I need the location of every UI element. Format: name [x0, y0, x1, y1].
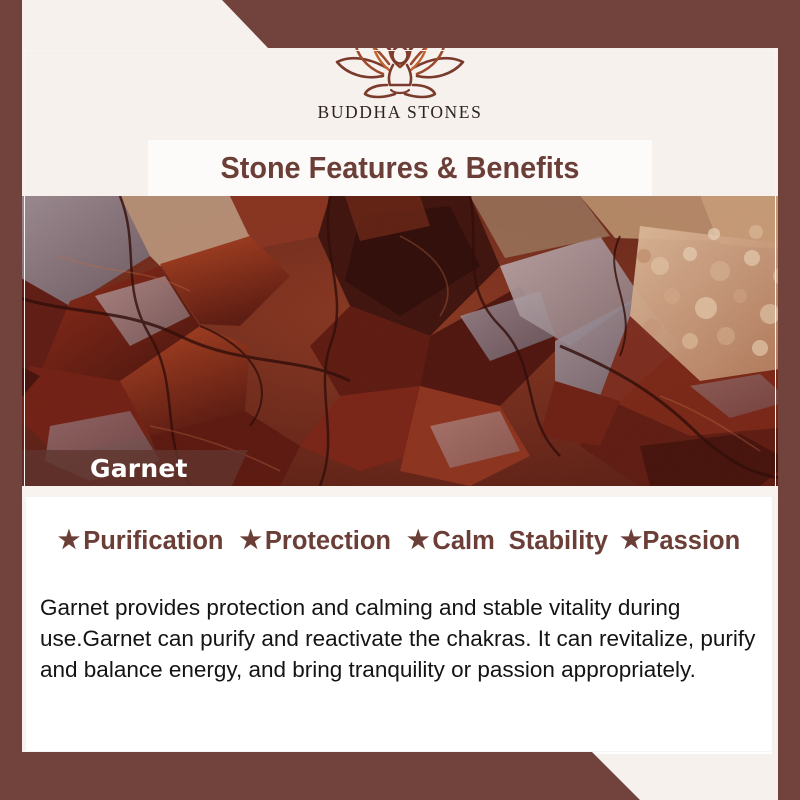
feature-label: Passion	[642, 527, 740, 556]
stone-name-label: Garnet	[22, 450, 248, 486]
frame-border-right	[778, 0, 800, 800]
feature-purification: ★ Purification	[58, 527, 224, 556]
stone-info-card: ★ Purification ★ Protection ★ Calm Stabi…	[26, 497, 772, 754]
feature-protection: ★ Protection	[239, 527, 391, 556]
feature-passion: ★ Passion	[620, 527, 740, 556]
product-info-graphic: BUDDHA STONES Stone Features & Benefits	[0, 0, 800, 800]
feature-calm: ★ Calm	[407, 527, 495, 556]
feature-label: Stability	[509, 527, 608, 556]
feature-label: Calm	[432, 527, 494, 556]
feature-stability: Stability	[509, 527, 608, 556]
garnet-crystal-image	[0, 196, 800, 486]
feature-label: Purification	[83, 527, 223, 556]
page-title: Stone Features & Benefits	[221, 150, 580, 186]
star-icon: ★	[58, 528, 80, 553]
stone-description: Garnet provides protection and calming a…	[40, 592, 762, 685]
feature-list: ★ Purification ★ Protection ★ Calm Stabi…	[26, 527, 772, 556]
stone-name: Garnet	[90, 454, 188, 483]
stone-photo	[0, 196, 800, 486]
star-icon: ★	[407, 528, 429, 553]
frame-border-bottom	[0, 752, 800, 800]
divider-strip	[22, 486, 778, 497]
section-title-banner: Stone Features & Benefits	[148, 140, 652, 196]
star-icon: ★	[239, 528, 261, 553]
brand-name: BUDDHA STONES	[290, 102, 510, 123]
feature-label: Protection	[265, 527, 391, 556]
frame-border-left	[0, 0, 22, 800]
star-icon: ★	[620, 528, 642, 553]
